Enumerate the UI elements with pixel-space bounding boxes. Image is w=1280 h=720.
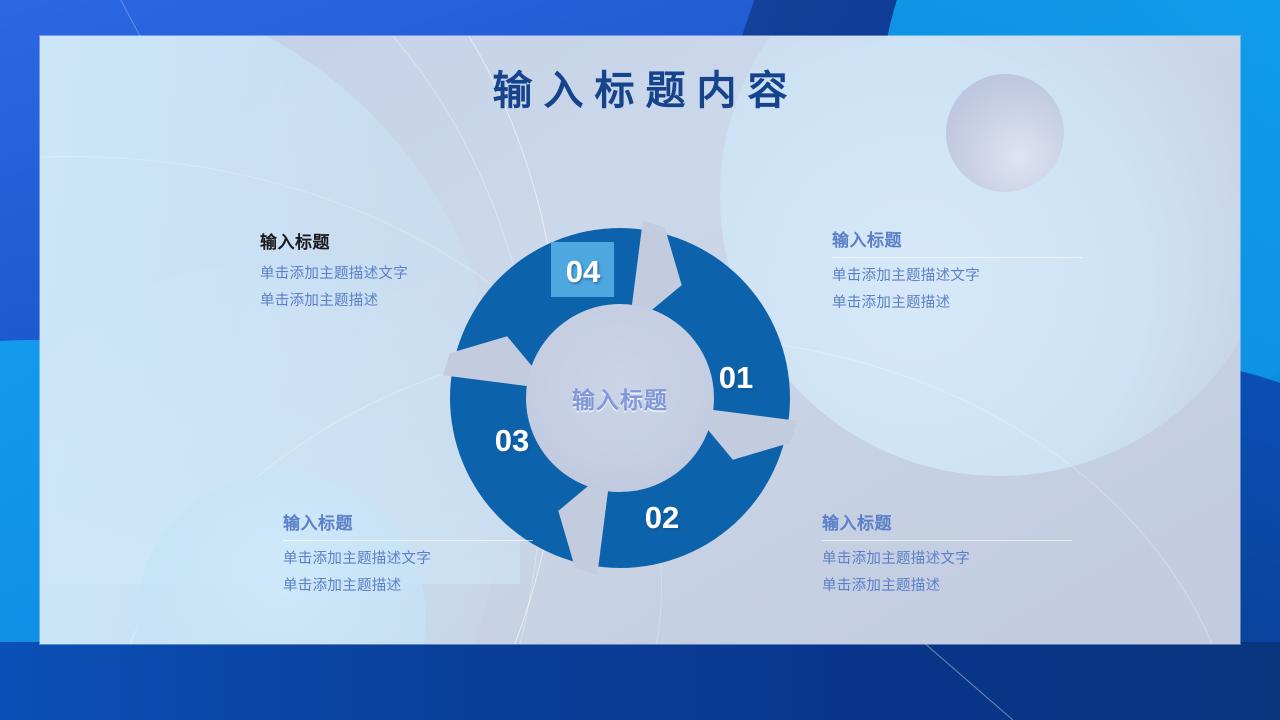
- block-heading: 输入标题: [283, 509, 533, 534]
- block-divider: [822, 540, 1072, 541]
- text-block-bottom-right: 输入标题 单击添加主题描述文字 单击添加主题描述: [822, 509, 1072, 604]
- text-block-top-left: 输入标题 单击添加主题描述文字 单击添加主题描述: [260, 228, 500, 319]
- block-divider: [260, 257, 500, 258]
- block-line-2: 单击添加主题描述: [260, 292, 500, 310]
- block-heading: 输入标题: [260, 228, 500, 253]
- block-line-2: 单击添加主题描述: [832, 294, 1082, 312]
- block-heading: 输入标题: [822, 509, 1072, 534]
- block-line-1: 单击添加主题描述文字: [832, 267, 1082, 285]
- segment-number-04[interactable]: 04: [566, 254, 601, 289]
- text-block-top-right: 输入标题 单击添加主题描述文字 单击添加主题描述: [832, 226, 1082, 321]
- page-title: 输入标题内容: [0, 58, 1280, 116]
- segment-number-02[interactable]: 02: [645, 500, 679, 535]
- segment-number-03[interactable]: 03: [495, 423, 529, 458]
- block-line-1: 单击添加主题描述文字: [822, 550, 1072, 568]
- frame-bottom-band: [0, 642, 1280, 720]
- block-line-2: 单击添加主题描述: [283, 577, 533, 595]
- block-divider: [283, 540, 533, 541]
- text-block-bottom-left: 输入标题 单击添加主题描述文字 单击添加主题描述: [283, 509, 533, 604]
- block-line-1: 单击添加主题描述文字: [283, 550, 533, 568]
- block-heading: 输入标题: [832, 226, 1082, 251]
- block-line-1: 单击添加主题描述文字: [260, 265, 500, 283]
- block-divider: [832, 257, 1082, 258]
- donut-center-label: 输入标题: [450, 381, 790, 415]
- block-line-2: 单击添加主题描述: [822, 577, 1072, 595]
- slide-canvas: 输入标题内容: [0, 0, 1280, 720]
